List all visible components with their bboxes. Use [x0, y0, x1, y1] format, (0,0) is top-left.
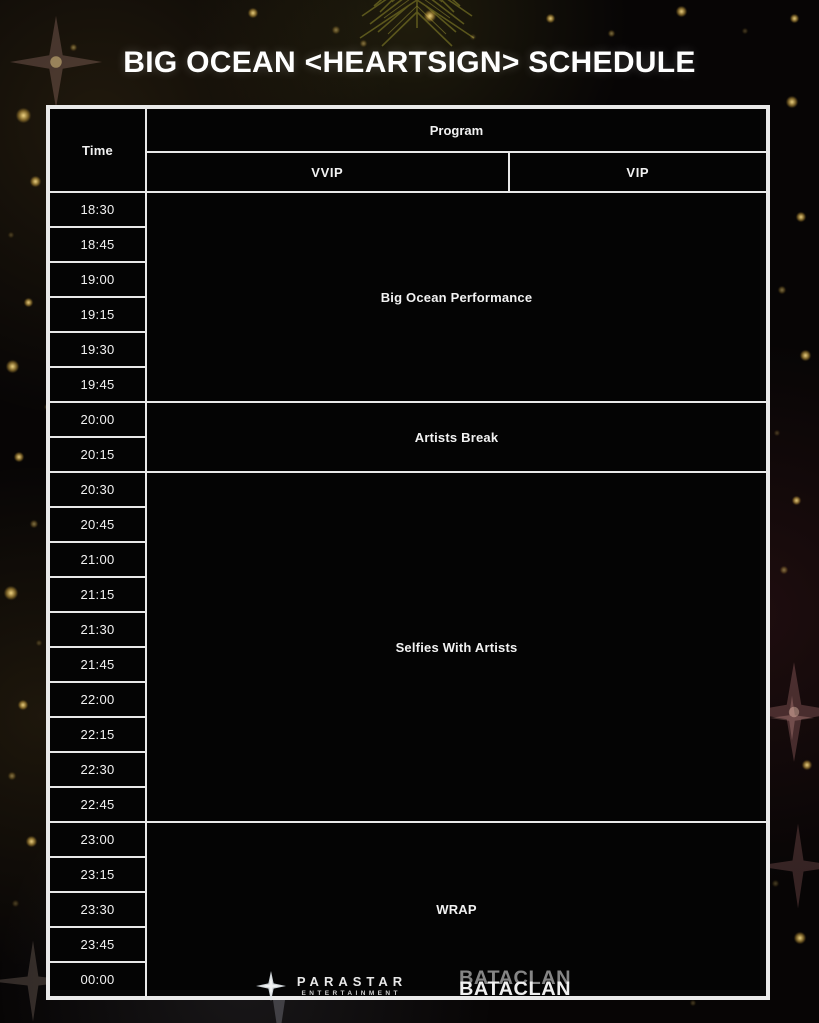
- column-header-vip: VIP: [510, 153, 766, 191]
- time-cell: 20:45: [50, 508, 145, 541]
- time-cell: 18:45: [50, 228, 145, 261]
- column-header-program: Program: [147, 109, 766, 151]
- time-cell: 22:30: [50, 753, 145, 786]
- time-cell: 19:00: [50, 263, 145, 296]
- time-cell: 18:30: [50, 193, 145, 226]
- time-cell: 21:15: [50, 578, 145, 611]
- time-cell: 22:45: [50, 788, 145, 821]
- table-row: 23:00WRAP: [50, 823, 766, 856]
- time-cell: 21:30: [50, 613, 145, 646]
- time-cell: 21:45: [50, 648, 145, 681]
- page-title: BIG OCEAN <HEARTSIGN> SCHEDULE: [0, 46, 819, 80]
- time-cell: 19:30: [50, 333, 145, 366]
- time-cell: 19:15: [50, 298, 145, 331]
- time-cell: 19:45: [50, 368, 145, 401]
- time-cell: 20:00: [50, 403, 145, 436]
- time-cell: 22:15: [50, 718, 145, 751]
- program-cell: Artists Break: [147, 403, 766, 471]
- time-cell: 23:30: [50, 893, 145, 926]
- time-cell: 23:45: [50, 928, 145, 961]
- table-row: 20:30Selfies With Artists: [50, 473, 766, 506]
- schedule-table: Time Program VVIP VIP 18:30Big Ocean Per…: [46, 105, 770, 1000]
- time-cell: 21:00: [50, 543, 145, 576]
- parastar-tagline: ENTERTAINMENT: [298, 991, 401, 998]
- program-cell: Big Ocean Performance: [147, 193, 766, 401]
- time-cell: 20:30: [50, 473, 145, 506]
- time-cell: 22:00: [50, 683, 145, 716]
- parastar-logo: PARASTAR ENTERTAINMENT: [256, 971, 407, 1001]
- time-cell: 23:15: [50, 858, 145, 891]
- bataclan-logo: BATACLAN BATACLAN: [459, 966, 563, 1006]
- parastar-name: PARASTAR: [292, 975, 407, 988]
- table-row: 18:30Big Ocean Performance: [50, 193, 766, 226]
- column-header-time: Time: [50, 109, 145, 191]
- table-row: 20:00Artists Break: [50, 403, 766, 436]
- parastar-wordmark: PARASTAR ENTERTAINMENT: [292, 975, 407, 998]
- star-icon: [256, 971, 286, 1001]
- table-header-row-tiers: VVIP VIP: [50, 153, 766, 191]
- time-cell: 20:15: [50, 438, 145, 471]
- schedule-table-body: Time Program VVIP VIP 18:30Big Ocean Per…: [50, 109, 766, 996]
- table-header-row-program: Time Program: [50, 109, 766, 151]
- bataclan-name: BATACLAN: [459, 979, 571, 1001]
- program-cell: Selfies With Artists: [147, 473, 766, 821]
- footer-logos: PARASTAR ENTERTAINMENT BATACLAN BATACLAN: [0, 958, 819, 1014]
- column-header-vvip: VVIP: [147, 153, 508, 191]
- time-cell: 23:00: [50, 823, 145, 856]
